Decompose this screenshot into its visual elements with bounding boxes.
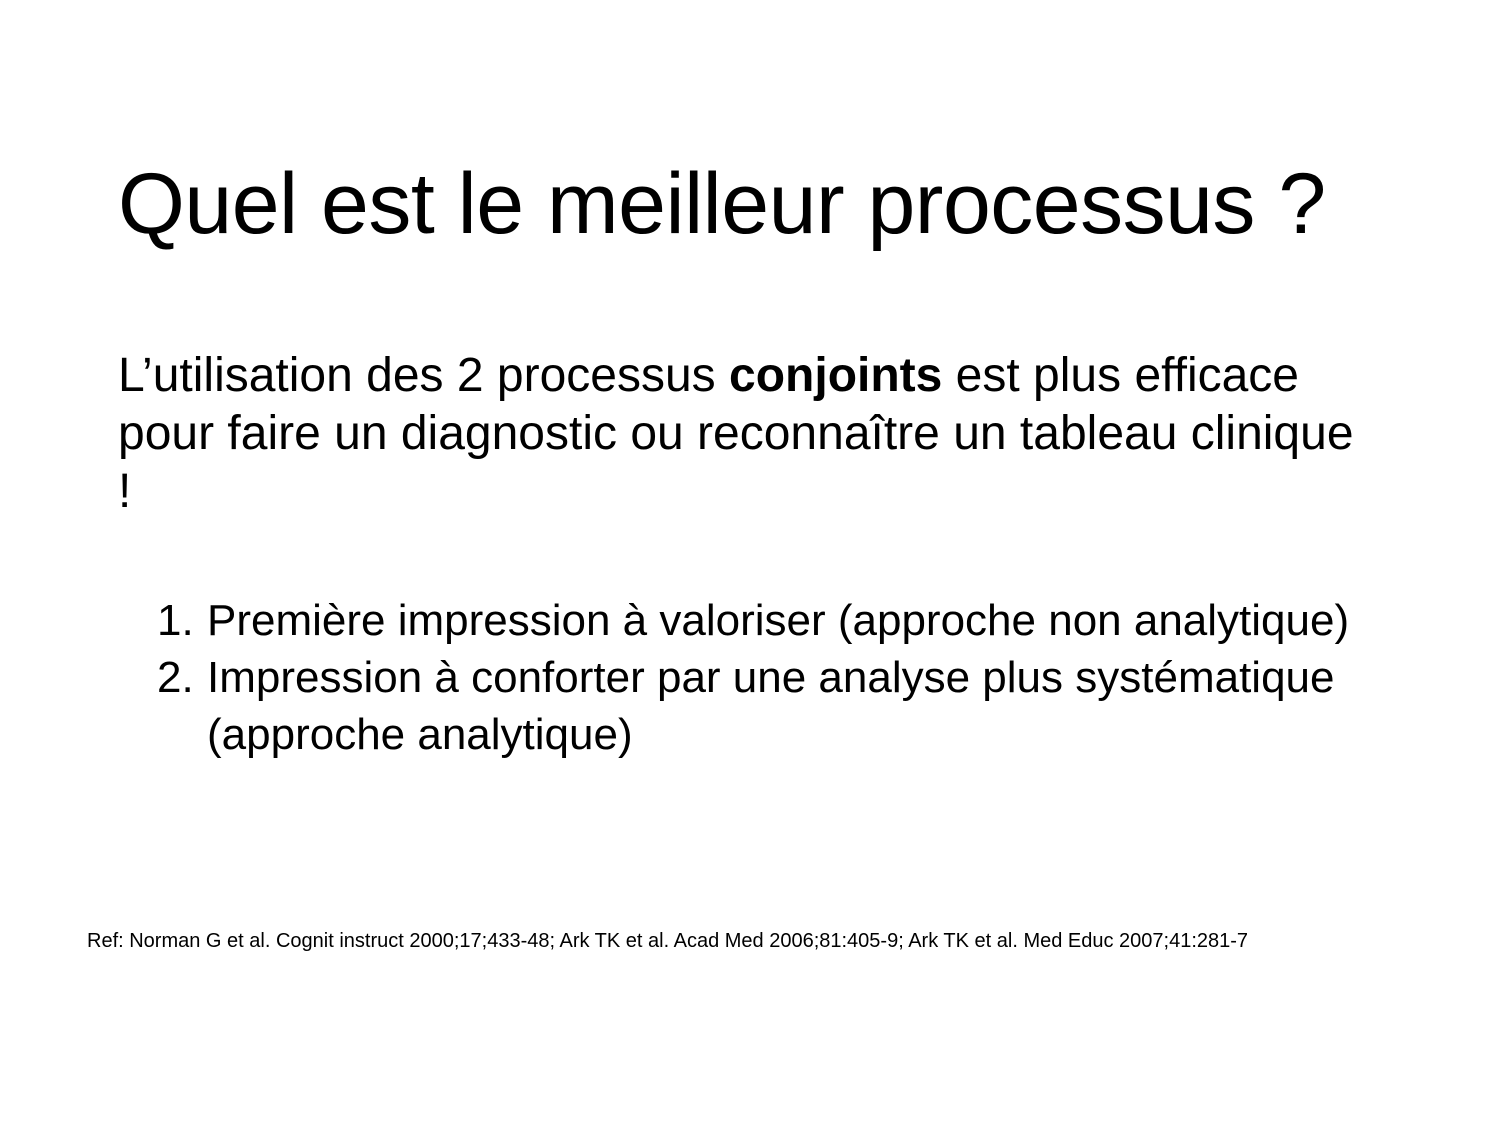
numbered-list: 1. Première impression à valoriser (appr… — [157, 592, 1417, 763]
page-title: Quel est le meilleur processus ? — [118, 161, 1398, 249]
list-item-label: Impression à conforter par une analyse p… — [207, 649, 1417, 763]
list-item-marker: 2. — [157, 649, 207, 706]
reference-footnote: Ref: Norman G et al. Cognit instruct 200… — [87, 928, 1417, 954]
lead-paragraph-emphasis: conjoints — [729, 349, 942, 402]
lead-paragraph: L’utilisation des 2 processus conjoints … — [118, 347, 1358, 521]
list-item: 2. Impression à conforter par une analys… — [157, 649, 1417, 763]
list-item: 1. Première impression à valoriser (appr… — [157, 592, 1417, 649]
list-item-label: Première impression à valoriser (approch… — [207, 592, 1417, 649]
lead-paragraph-part-1: L’utilisation des 2 processus — [118, 349, 729, 402]
list-item-marker: 1. — [157, 592, 207, 649]
slide-canvas: Quel est le meilleur processus ? L’utili… — [0, 0, 1500, 1125]
